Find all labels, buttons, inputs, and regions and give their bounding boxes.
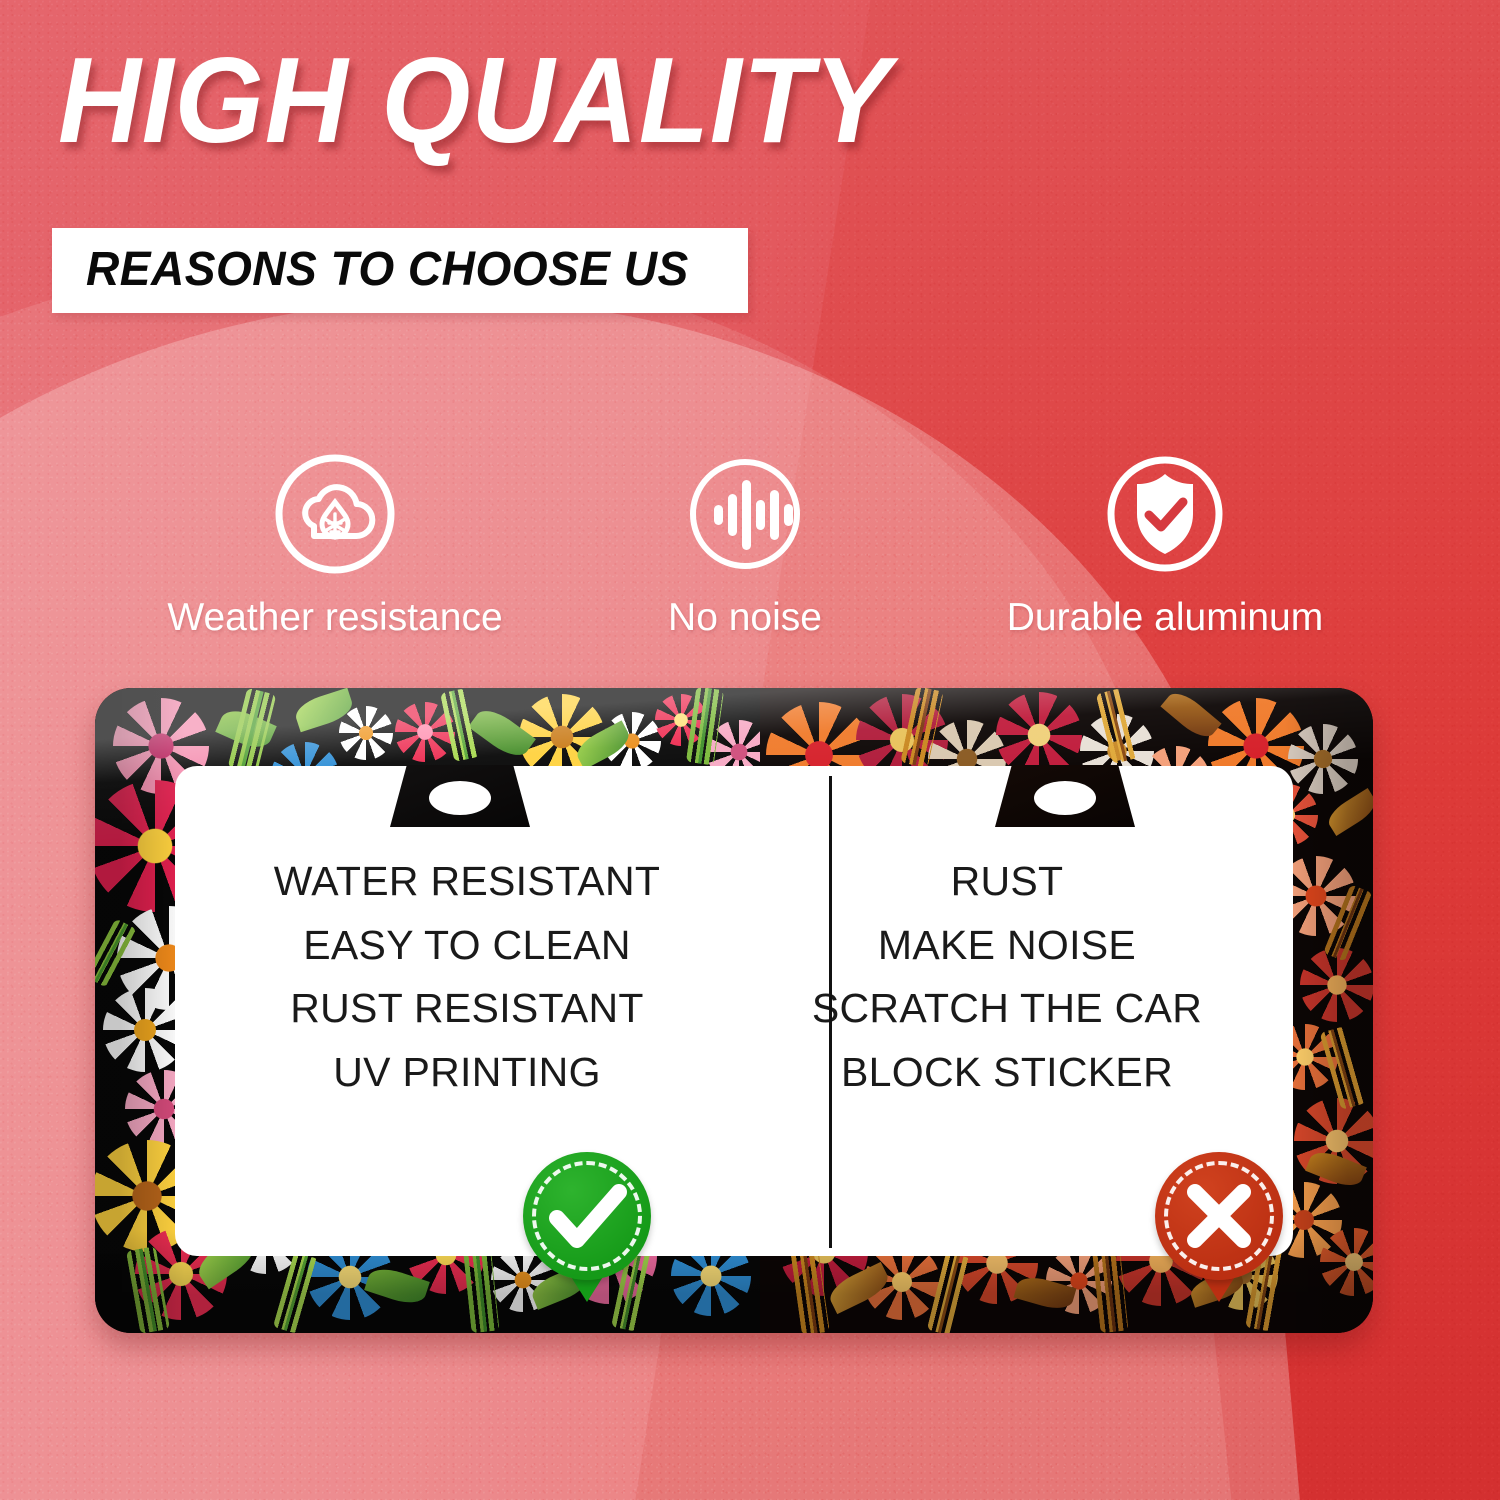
cons-line: BLOCK STICKER bbox=[737, 1041, 1277, 1105]
feature-list: Weather resistance No noise bbox=[0, 452, 1500, 640]
cons-line: RUST bbox=[737, 850, 1277, 914]
pros-line: EASY TO CLEAN bbox=[197, 914, 737, 978]
cons-panel: RUST MAKE NOISE SCRATCH THE CAR BLOCK ST… bbox=[737, 850, 1277, 1104]
pros-line: RUST RESISTANT bbox=[197, 977, 737, 1041]
panel-divider bbox=[829, 776, 832, 1248]
cross-icon bbox=[1155, 1152, 1283, 1280]
shield-check-icon bbox=[1103, 452, 1227, 576]
cloud-water-snowflake-icon bbox=[273, 452, 397, 576]
pros-line: UV PRINTING bbox=[197, 1041, 737, 1105]
comparison-panel-window: WATER RESISTANT EASY TO CLEAN RUST RESIS… bbox=[175, 766, 1293, 1256]
cons-line: SCRATCH THE CAR bbox=[737, 977, 1277, 1041]
feature-durable-aluminum: Durable aluminum bbox=[905, 452, 1425, 640]
mounting-notch-right bbox=[995, 765, 1135, 827]
feature-label: No noise bbox=[585, 596, 905, 640]
mounting-notch-left bbox=[390, 765, 530, 827]
feature-label: Durable aluminum bbox=[905, 596, 1425, 640]
screw-hole bbox=[1034, 781, 1096, 815]
check-icon bbox=[523, 1152, 651, 1280]
feature-label: Weather resistance bbox=[85, 596, 585, 640]
feature-weather-resistance: Weather resistance bbox=[85, 452, 585, 640]
subheading-text: REASONS TO CHOOSE US bbox=[86, 242, 689, 297]
pros-line: WATER RESISTANT bbox=[197, 850, 737, 914]
feature-no-noise: No noise bbox=[585, 452, 905, 640]
pros-panel: WATER RESISTANT EASY TO CLEAN RUST RESIS… bbox=[197, 850, 737, 1104]
subheading-banner: REASONS TO CHOOSE US bbox=[52, 228, 748, 313]
cons-line: MAKE NOISE bbox=[737, 914, 1277, 978]
page-title: HIGH QUALITY bbox=[58, 38, 891, 162]
soundwave-icon bbox=[683, 452, 807, 576]
screw-hole bbox=[429, 781, 491, 815]
license-plate-frame-product: WATER RESISTANT EASY TO CLEAN RUST RESIS… bbox=[95, 688, 1373, 1333]
